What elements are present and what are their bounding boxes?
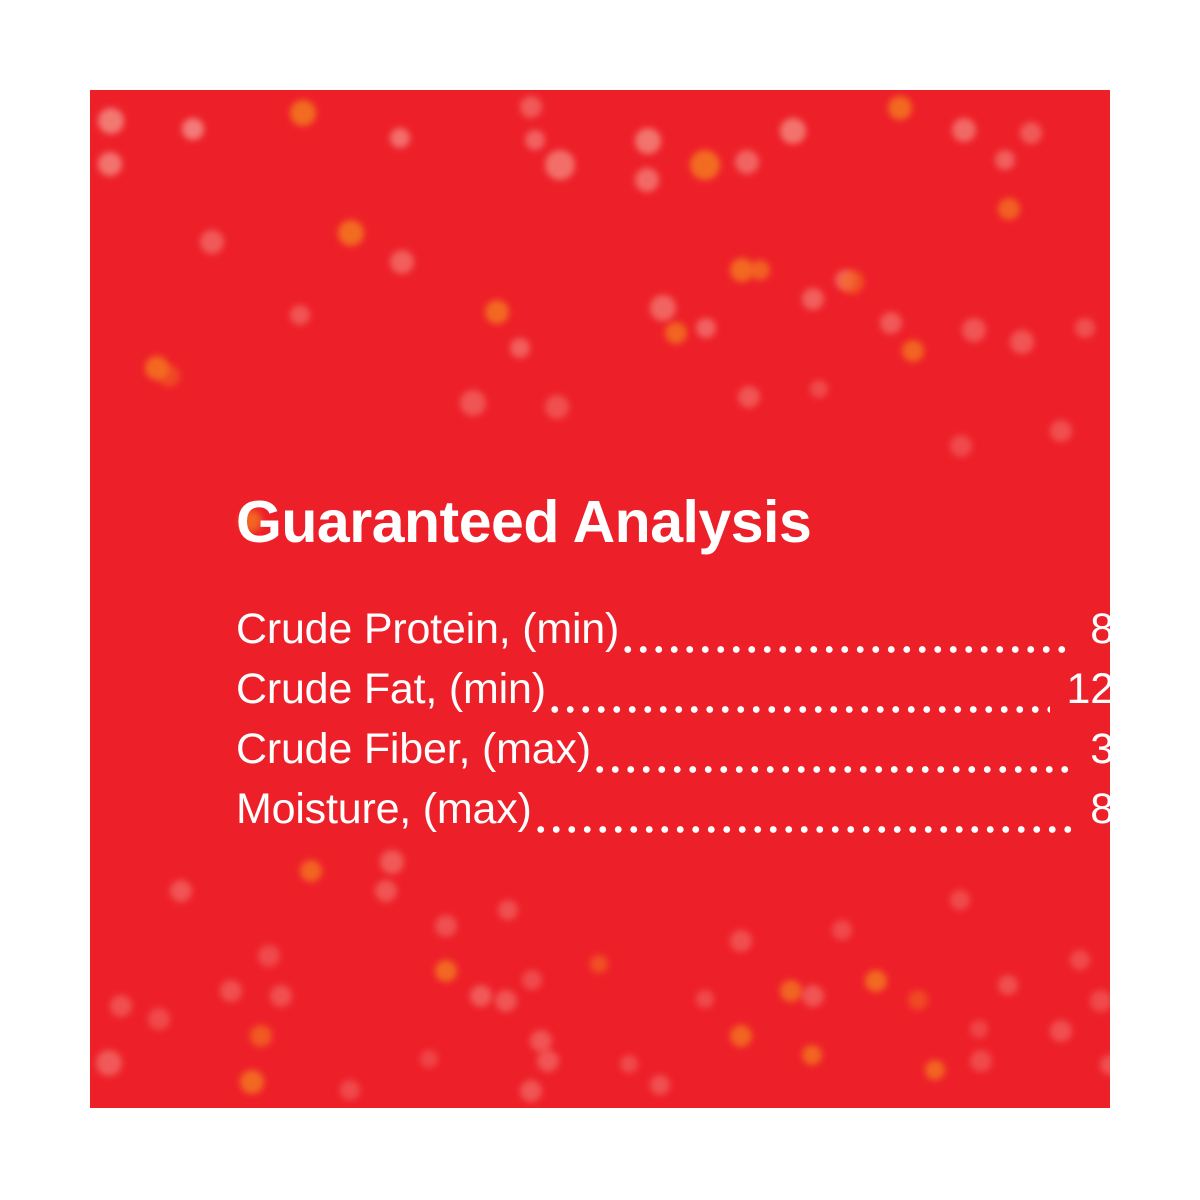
confetti-dot xyxy=(950,890,970,910)
confetti-dot xyxy=(835,270,855,290)
confetti-dot xyxy=(1070,950,1090,970)
confetti-dot xyxy=(696,990,714,1008)
confetti-dot xyxy=(375,880,397,902)
confetti-dot xyxy=(380,850,404,874)
confetti-dot xyxy=(950,435,972,457)
confetti-dot xyxy=(495,990,517,1012)
confetti-dot xyxy=(1010,330,1034,354)
analysis-row-label: Moisture, (max) xyxy=(236,779,532,839)
confetti-dot xyxy=(98,152,122,176)
confetti-dot xyxy=(665,322,687,344)
confetti-dot xyxy=(1100,1055,1110,1075)
confetti-dot xyxy=(270,985,292,1007)
confetti-dot xyxy=(962,318,986,342)
confetti-dot xyxy=(998,975,1018,995)
confetti-dot xyxy=(902,340,924,362)
confetti-dot xyxy=(390,128,410,148)
confetti-dot xyxy=(750,260,770,280)
confetti-dot xyxy=(290,305,310,325)
confetti-dot xyxy=(96,1050,122,1076)
guaranteed-analysis-panel: Guaranteed Analysis Crude Protein, (min)… xyxy=(0,0,1200,1200)
confetti-dot xyxy=(420,1050,438,1068)
confetti-dot xyxy=(545,395,569,419)
analysis-row-value: 8% xyxy=(1074,599,1110,659)
confetti-dot xyxy=(802,985,824,1007)
confetti-dot xyxy=(158,365,180,387)
confetti-dot xyxy=(148,1008,170,1030)
confetti-dot xyxy=(650,1075,670,1095)
confetti-dot xyxy=(730,1025,752,1047)
confetti-dot xyxy=(635,128,661,154)
confetti-dot xyxy=(485,300,509,324)
confetti-dot xyxy=(730,930,752,952)
confetti-dot xyxy=(498,900,518,920)
confetti-dot xyxy=(802,288,824,310)
confetti-dot xyxy=(696,318,716,338)
confetti-dot xyxy=(1090,990,1110,1012)
confetti-dot xyxy=(520,1080,542,1102)
confetti-dot xyxy=(888,96,912,120)
analysis-row-label: Crude Fiber, (max) xyxy=(236,719,591,779)
confetti-dot xyxy=(952,118,976,142)
confetti-dot xyxy=(98,108,124,134)
red-confetti-background: Guaranteed Analysis Crude Protein, (min)… xyxy=(90,90,1110,1108)
confetti-dot xyxy=(435,960,457,982)
confetti-dot xyxy=(545,150,575,180)
confetti-dot xyxy=(338,220,364,246)
confetti-dot xyxy=(995,150,1015,170)
guaranteed-analysis-list: Crude Protein, (min)8%Crude Fat, (min)12… xyxy=(236,599,1110,839)
confetti-dot xyxy=(635,168,659,192)
confetti-dot xyxy=(730,258,754,282)
analysis-row: Crude Fat, (min)12% xyxy=(236,659,1110,719)
dot-leader xyxy=(620,616,1073,659)
confetti-dot xyxy=(908,990,928,1010)
confetti-dot xyxy=(970,1020,988,1038)
analysis-row-value: 8% xyxy=(1074,779,1110,839)
analysis-row-label: Crude Fat, (min) xyxy=(236,659,546,719)
confetti-dot xyxy=(240,1070,264,1094)
confetti-dot xyxy=(780,980,802,1002)
confetti-dot xyxy=(510,338,530,358)
confetti-dot xyxy=(880,312,902,334)
confetti-dot xyxy=(865,970,887,992)
confetti-dot xyxy=(925,1060,945,1080)
confetti-dot xyxy=(690,150,720,180)
confetti-dot xyxy=(998,198,1020,220)
confetti-dot xyxy=(300,860,322,882)
analysis-content: Guaranteed Analysis Crude Protein, (min)… xyxy=(236,492,1110,839)
confetti-dot xyxy=(650,295,676,321)
analysis-row-value: 12% xyxy=(1051,659,1110,719)
confetti-dot xyxy=(110,995,132,1017)
confetti-dot xyxy=(1020,122,1042,144)
confetti-dot xyxy=(530,1030,552,1052)
analysis-row-label: Crude Protein, (min) xyxy=(236,599,619,659)
confetti-dot xyxy=(970,1050,992,1072)
dot-leader xyxy=(533,796,1074,839)
confetti-dot xyxy=(520,96,542,118)
confetti-dot xyxy=(1050,420,1072,442)
confetti-dot xyxy=(250,1025,272,1047)
analysis-row: Crude Fiber, (max)3% xyxy=(236,719,1110,779)
confetti-dot xyxy=(735,150,759,174)
dot-leader xyxy=(547,676,1050,719)
confetti-dot xyxy=(620,1055,638,1073)
confetti-dot xyxy=(200,230,224,254)
confetti-dot xyxy=(525,130,545,150)
confetti-dot xyxy=(340,1080,360,1100)
confetti-dot xyxy=(435,915,457,937)
confetti-dot xyxy=(810,380,828,398)
confetti-dot xyxy=(145,356,169,380)
confetti-dot xyxy=(537,1050,559,1072)
confetti-dot xyxy=(780,118,806,144)
confetti-dot xyxy=(590,955,608,973)
confetti-dot xyxy=(840,270,864,294)
page-title: Guaranteed Analysis xyxy=(236,492,1110,553)
confetti-dot xyxy=(258,945,280,967)
confetti-dot xyxy=(522,970,542,990)
analysis-row-value: 3% xyxy=(1074,719,1110,779)
confetti-dot xyxy=(390,250,414,274)
dot-leader xyxy=(592,736,1073,779)
confetti-dot xyxy=(802,1045,822,1065)
confetti-dot xyxy=(170,880,192,902)
confetti-dot xyxy=(1075,318,1095,338)
confetti-dot xyxy=(220,980,242,1002)
confetti-dot xyxy=(182,118,204,140)
analysis-row: Crude Protein, (min)8% xyxy=(236,599,1110,659)
confetti-dot xyxy=(1050,1020,1072,1042)
confetti-dot xyxy=(290,100,316,126)
confetti-dot xyxy=(738,386,760,408)
confetti-dot xyxy=(832,920,852,940)
analysis-row: Moisture, (max)8% xyxy=(236,779,1110,839)
confetti-dot xyxy=(460,390,486,416)
confetti-dot xyxy=(470,985,492,1007)
